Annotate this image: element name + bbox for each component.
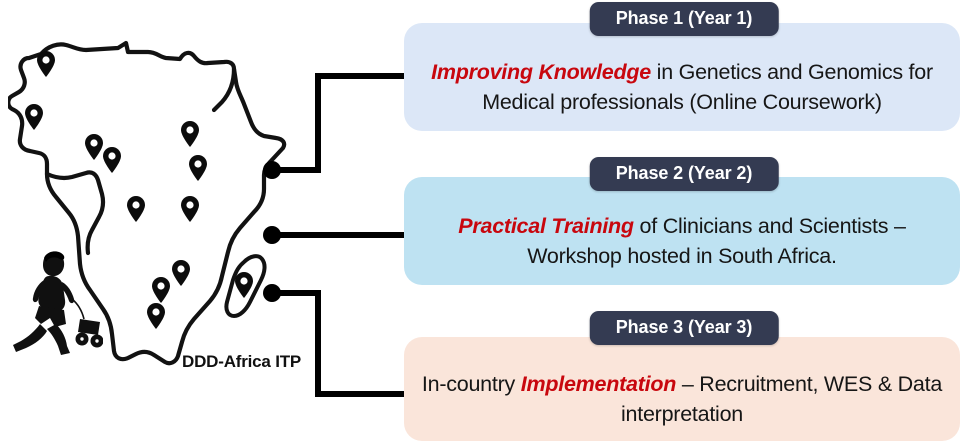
toy-cart (76, 319, 103, 347)
child-running-with-toy-cart-icon (8, 248, 103, 360)
phase-card-1-accent: Improving Knowledge (431, 60, 651, 84)
connector-dot-phase-3[interactable] (263, 284, 281, 302)
connector-lines (260, 0, 420, 447)
phase-badge-1[interactable]: Phase 1 (Year 1) (590, 2, 779, 36)
phase-badge-3[interactable]: Phase 3 (Year 3) (590, 311, 779, 345)
phase-card-3-text: In-country Implementation – Recruitment,… (420, 369, 944, 429)
phase-card-3-prefix: In-country (422, 372, 521, 396)
runner-back-leg (13, 324, 47, 352)
connector-dot-phase-2[interactable] (263, 226, 281, 244)
phase-card-1-text: Improving Knowledge in Genetics and Geno… (420, 57, 944, 117)
phase-card-1[interactable]: Improving Knowledge in Genetics and Geno… (404, 23, 960, 131)
phase-card-2-accent: Practical Training (458, 214, 634, 238)
phase-card-2-body: Practical Training of Clinicians and Sci… (404, 195, 960, 285)
phase-card-3-accent: Implementation (521, 372, 676, 396)
phase-card-3-body: In-country Implementation – Recruitment,… (404, 355, 960, 441)
runner-front-leg (47, 324, 70, 355)
phase-card-2[interactable]: Practical Training of Clinicians and Sci… (404, 177, 960, 285)
toy-pull-string (72, 299, 84, 319)
phase-card-1-body: Improving Knowledge in Genetics and Geno… (404, 41, 960, 131)
phase-card-3[interactable]: In-country Implementation – Recruitment,… (404, 337, 960, 441)
runner-torso (38, 276, 65, 311)
phase-badge-2[interactable]: Phase 2 (Year 2) (590, 157, 779, 191)
phase-card-2-text: Practical Training of Clinicians and Sci… (420, 211, 944, 271)
connector-line-phase-3 (272, 293, 420, 394)
connector-dot-phase-1[interactable] (263, 161, 281, 179)
connector-line-phase-1 (272, 76, 420, 170)
diagram-canvas: DDD-Africa ITP Improving Knowledge in Ge… (0, 0, 969, 447)
